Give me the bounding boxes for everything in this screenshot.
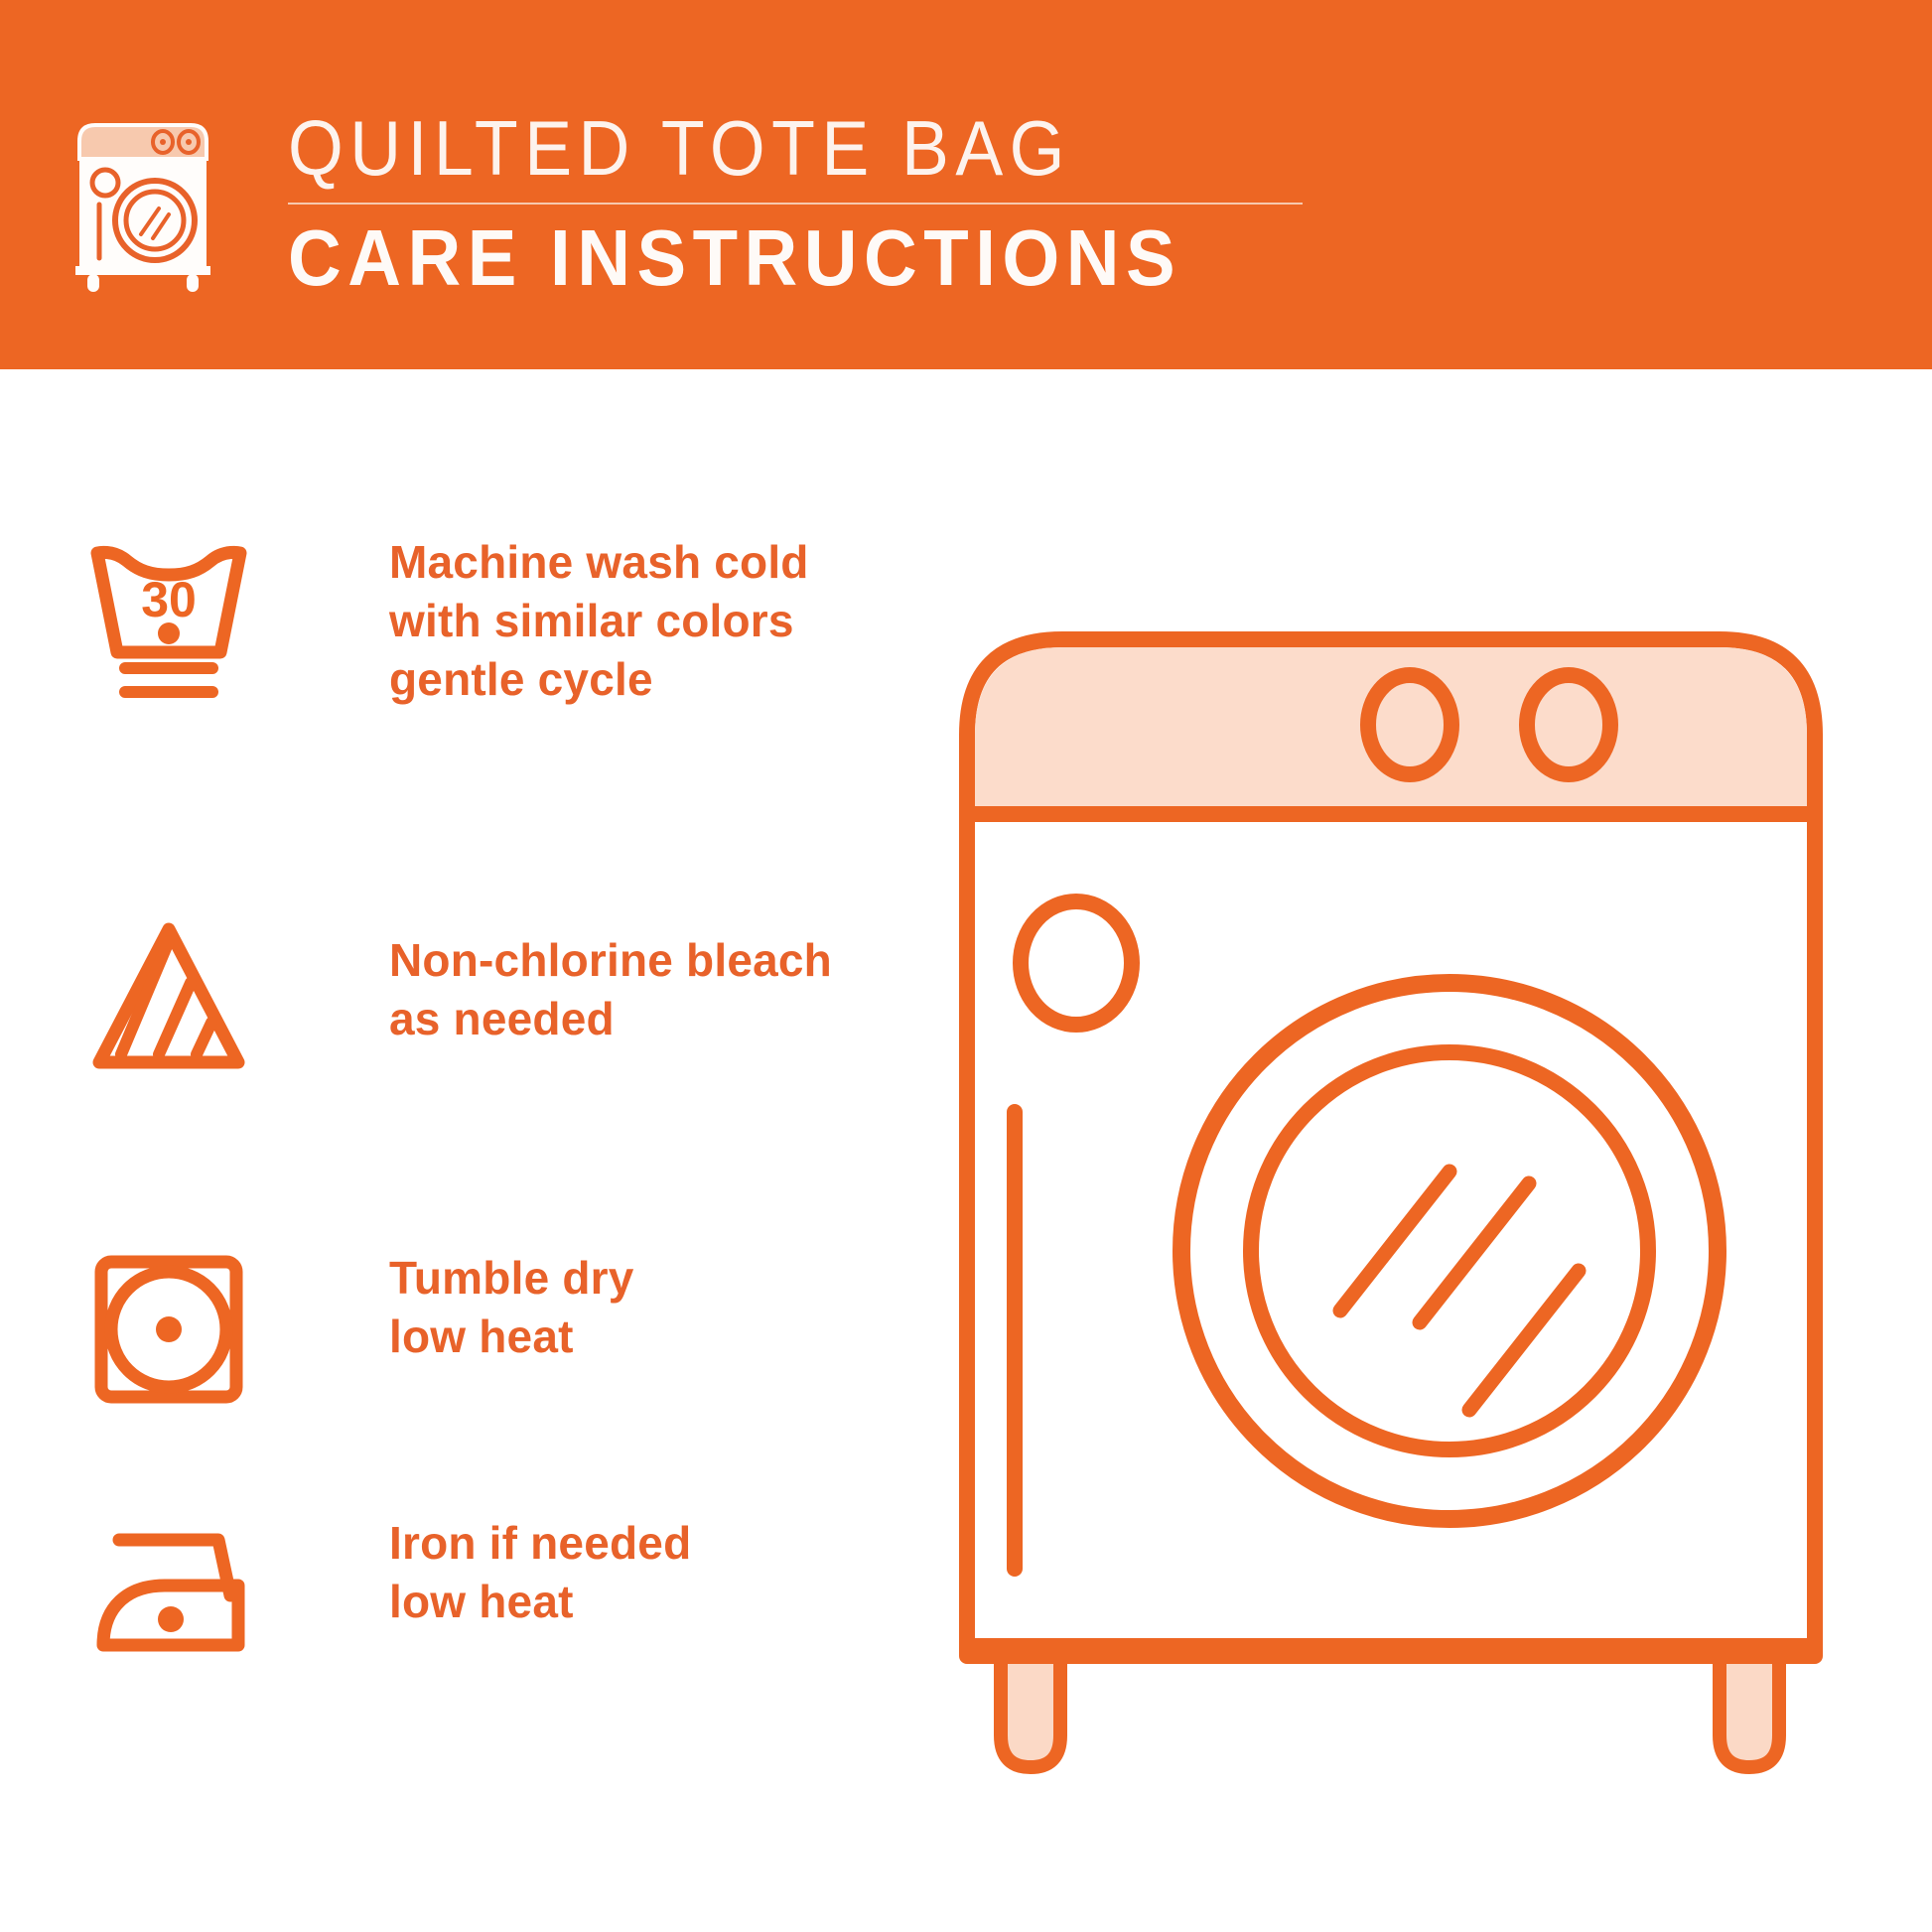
- iron-icon: [79, 1504, 258, 1683]
- care-row-tumble-dry: Tumble dry low heat: [0, 1211, 953, 1440]
- washing-machine-illustration: [953, 616, 1847, 1857]
- wash-temperature-value: 30: [141, 572, 197, 627]
- page-title-primary: QUILTED TOTE BAG: [288, 109, 1238, 187]
- knob-right: [1527, 675, 1610, 774]
- care-row-bleach: Non-chlorine bleach as needed: [0, 894, 953, 1122]
- care-instruction-list: 30 Machine wash cold with similar colors…: [0, 427, 953, 1777]
- wash-tub-icon: 30: [79, 531, 258, 710]
- washing-machine-icon: [71, 117, 222, 292]
- care-label-iron: Iron if needed low heat: [389, 1514, 691, 1631]
- care-row-wash: 30 Machine wash cold with similar colors…: [0, 521, 953, 750]
- header-title-block: QUILTED TOTE BAG CARE INSTRUCTIONS: [288, 109, 1320, 298]
- leg-right: [1720, 1653, 1779, 1767]
- care-instructions-infographic: QUILTED TOTE BAG CARE INSTRUCTIONS 30: [0, 0, 1932, 1932]
- care-label-tumble-dry: Tumble dry low heat: [389, 1249, 634, 1366]
- tumble-dry-icon: [79, 1236, 258, 1415]
- knob-left: [1368, 675, 1451, 774]
- bleach-triangle-icon: [79, 911, 258, 1090]
- care-label-bleach: Non-chlorine bleach as needed: [389, 931, 832, 1048]
- care-label-wash: Machine wash cold with similar colors ge…: [389, 533, 809, 709]
- care-row-iron: Iron if needed low heat: [0, 1474, 953, 1703]
- leg-left: [1001, 1653, 1060, 1767]
- header-divider: [288, 203, 1303, 205]
- header-content: QUILTED TOTE BAG CARE INSTRUCTIONS: [71, 109, 1322, 298]
- page-title-secondary: CARE INSTRUCTIONS: [288, 218, 1248, 298]
- header-band: QUILTED TOTE BAG CARE INSTRUCTIONS: [0, 0, 1932, 369]
